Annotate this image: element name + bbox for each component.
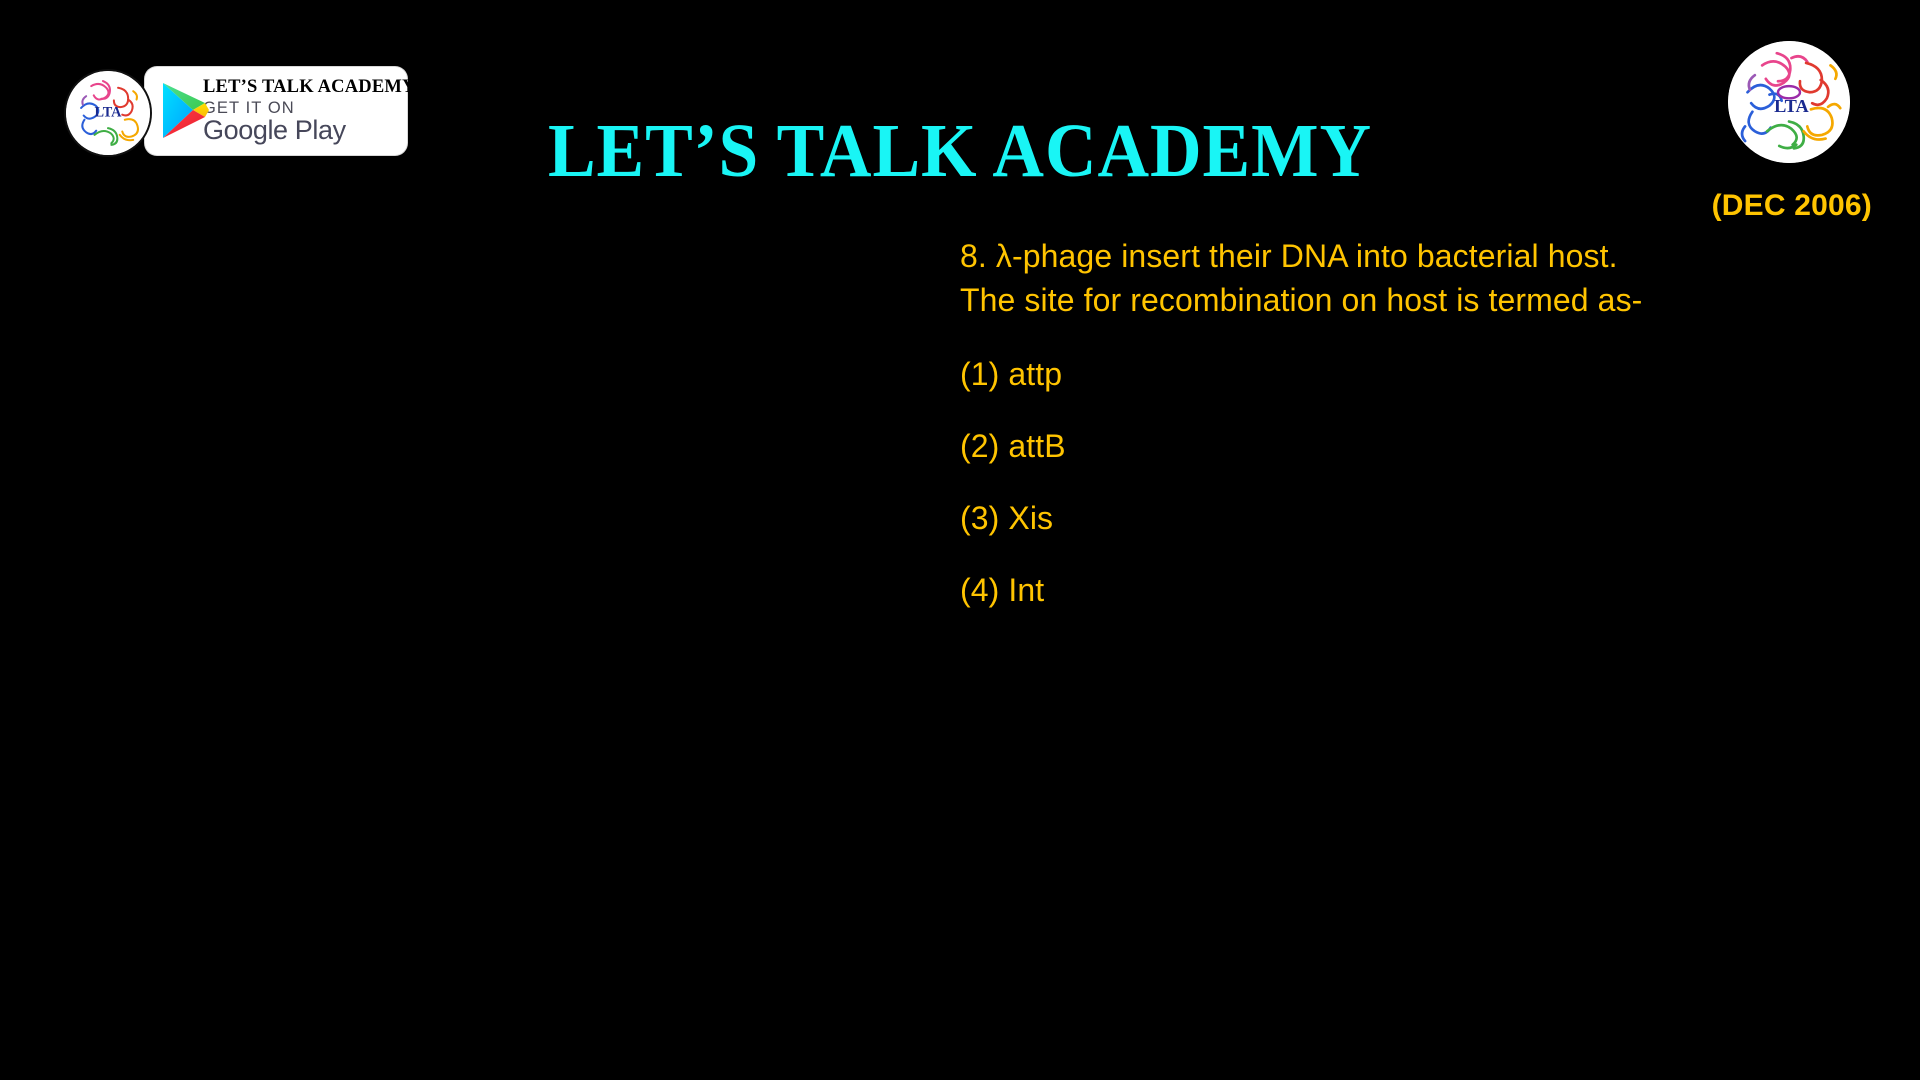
lta-logo-right: LTA	[1728, 41, 1850, 163]
svg-text:LTA: LTA	[95, 104, 123, 120]
page-title: LET’S TALK ACADEMY	[58, 113, 1863, 189]
options-list: (1) attp (2) attB (3) Xis (4) Int	[960, 354, 1860, 610]
svg-text:LTA: LTA	[1774, 96, 1809, 116]
question-block: 8. λ-phage insert their DNA into bacteri…	[960, 234, 1860, 610]
badge-academy-name: LET’S TALK ACADEMY	[203, 78, 416, 97]
question-line-1: 8. λ-phage insert their DNA into bacteri…	[960, 234, 1860, 278]
question-line-2: The site for recombination on host is te…	[960, 278, 1860, 322]
option-1[interactable]: (1) attp	[960, 354, 1860, 394]
option-4[interactable]: (4) Int	[960, 570, 1860, 610]
lta-logo-left: LTA	[66, 71, 150, 155]
option-2[interactable]: (2) attB	[960, 426, 1860, 466]
exam-date-tag: (DEC 2006)	[1712, 189, 1872, 223]
option-3[interactable]: (3) Xis	[960, 498, 1860, 538]
